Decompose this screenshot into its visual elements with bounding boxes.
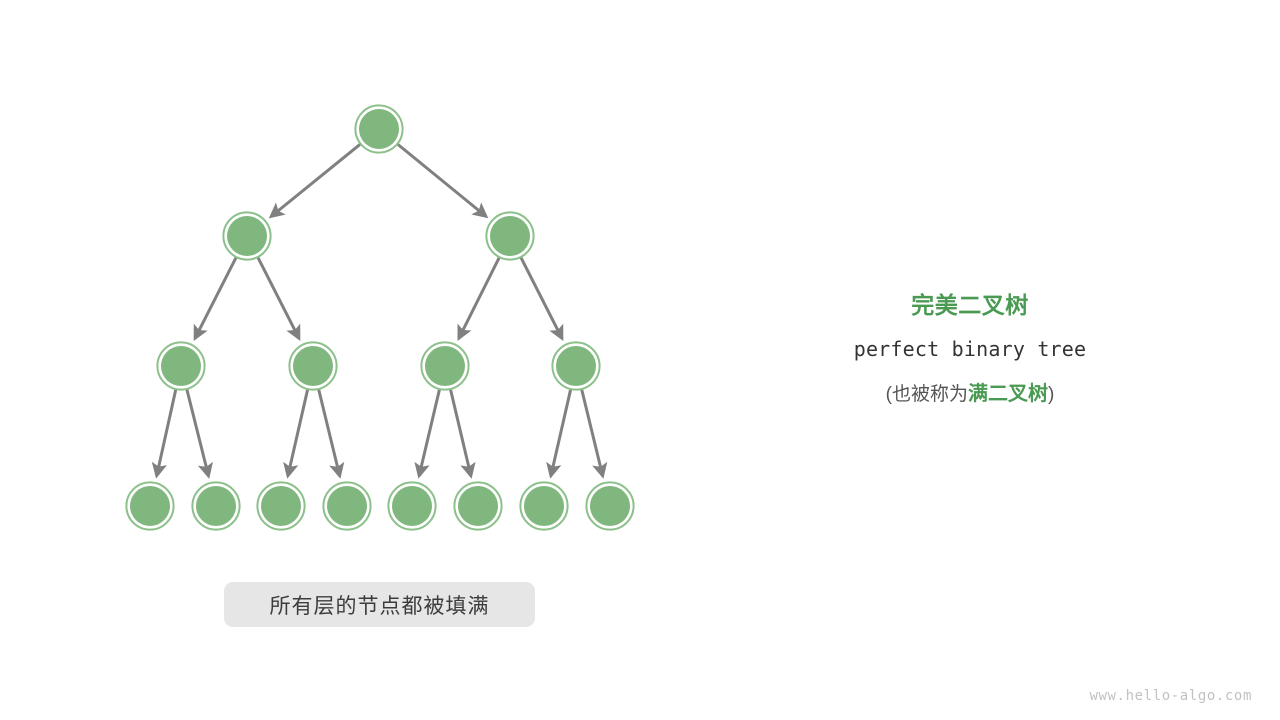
tree-node-disc xyxy=(392,486,432,526)
tree-node xyxy=(323,482,370,529)
tree-node xyxy=(586,482,633,529)
legend-alias-prefix: (也被称为 xyxy=(886,384,968,405)
tree-edge xyxy=(271,144,360,216)
site-watermark: www.hello-algo.com xyxy=(1089,688,1252,704)
tree-node-disc xyxy=(293,346,333,386)
tree-edge xyxy=(157,390,176,476)
tree-edge xyxy=(258,258,299,339)
tree-node-disc xyxy=(130,486,170,526)
tree-node xyxy=(257,482,304,529)
tree-edge xyxy=(521,258,562,339)
tree-node xyxy=(192,482,239,529)
tree-edge xyxy=(451,390,471,476)
legend-alias-highlight: 满二叉树 xyxy=(968,383,1048,405)
tree-edge xyxy=(398,144,486,216)
tree-node xyxy=(126,482,173,529)
tree-node xyxy=(520,482,567,529)
legend-subtitle-english: perfect binary tree xyxy=(800,333,1140,365)
tree-node-layer xyxy=(126,105,633,529)
tree-node-disc xyxy=(359,109,399,149)
tree-node xyxy=(355,105,402,152)
tree-caption-text: 所有层的节点都被填满 xyxy=(270,590,490,620)
tree-node-disc xyxy=(327,486,367,526)
tree-node xyxy=(223,212,270,259)
tree-node-disc xyxy=(425,346,465,386)
tree-edge xyxy=(419,390,439,476)
legend-alias-line: (也被称为满二叉树) xyxy=(800,379,1140,410)
tree-node-disc xyxy=(261,486,301,526)
tree-edge xyxy=(195,258,236,339)
tree-edge xyxy=(551,390,571,476)
tree-edge-layer xyxy=(157,144,603,475)
tree-edge xyxy=(319,390,340,476)
tree-node xyxy=(486,212,533,259)
tree-node-disc xyxy=(227,216,267,256)
tree-caption-badge: 所有层的节点都被填满 xyxy=(224,582,535,627)
legend-alias-suffix: ) xyxy=(1048,384,1054,405)
tree-node xyxy=(289,342,336,389)
tree-node-disc xyxy=(490,216,530,256)
tree-node xyxy=(421,342,468,389)
tree-node-disc xyxy=(524,486,564,526)
tree-edge xyxy=(288,390,308,476)
tree-node-disc xyxy=(556,346,596,386)
legend-title-chinese: 完美二叉树 xyxy=(800,288,1140,322)
tree-node-disc xyxy=(161,346,201,386)
tree-node xyxy=(388,482,435,529)
tree-node xyxy=(157,342,204,389)
tree-edge xyxy=(187,390,209,476)
legend-panel: 完美二叉树 perfect binary tree (也被称为满二叉树) xyxy=(800,288,1140,410)
tree-node xyxy=(552,342,599,389)
tree-node xyxy=(454,482,501,529)
tree-edge xyxy=(582,390,603,476)
tree-edge xyxy=(459,258,499,338)
tree-node-disc xyxy=(590,486,630,526)
tree-node-disc xyxy=(458,486,498,526)
tree-node-disc xyxy=(196,486,236,526)
